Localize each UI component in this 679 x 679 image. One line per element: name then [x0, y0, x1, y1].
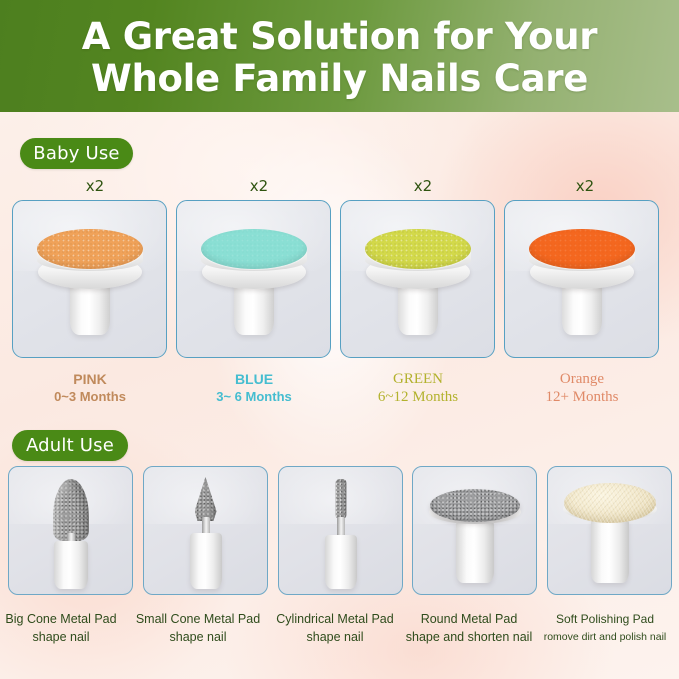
infographic-page: A Great Solution for Your Whole Family N… [0, 0, 679, 679]
baby-count-blue: x2 [176, 176, 342, 196]
adult-label-round-pad-line2: shape and shorten nail [400, 628, 538, 646]
baby-label-pink-name: PINK [10, 370, 170, 388]
adult-label-big-cone-line1: Big Cone Metal Pad [0, 610, 130, 628]
adult-label-cylindrical-line1: Cylindrical Metal Pad [266, 610, 404, 628]
baby-label-blue-age: 3~ 6 Months [174, 388, 334, 406]
baby-card-blue[interactable] [176, 200, 331, 358]
sanding-pad-icon [505, 215, 658, 355]
adult-card-soft-polishing[interactable] [547, 466, 672, 595]
adult-label-cylindrical: Cylindrical Metal Pad shape nail [266, 610, 404, 646]
adult-card-round-pad[interactable] [412, 466, 537, 595]
pad-surface-felt [564, 483, 656, 523]
adult-label-round-pad: Round Metal Pad shape and shorten nail [400, 610, 538, 646]
adult-label-big-cone-line2: shape nail [0, 628, 130, 646]
baby-count-orange: x2 [502, 176, 668, 196]
adult-label-small-cone: Small Cone Metal Pad shape nail [129, 610, 267, 646]
baby-label-blue: BLUE 3~ 6 Months [174, 370, 334, 406]
baby-use-badge: Baby Use [20, 138, 133, 169]
pad-stem [456, 521, 494, 583]
baby-label-green-age: 6~12 Months [338, 388, 498, 406]
baby-card-green[interactable] [340, 200, 495, 358]
header-title-line1: A Great Solution for Your [82, 16, 597, 58]
baby-count-row: x2 x2 x2 x2 [12, 176, 667, 196]
baby-cards-row [12, 200, 668, 360]
adult-label-cylindrical-line2: shape nail [266, 628, 404, 646]
pad-surface-pink [37, 229, 143, 269]
baby-count-pink: x2 [12, 176, 178, 196]
baby-card-orange[interactable] [504, 200, 659, 358]
header-title-line2: Whole Family Nails Care [91, 58, 588, 100]
adult-label-small-cone-line1: Small Cone Metal Pad [129, 610, 267, 628]
baby-label-orange: Orange 12+ Months [502, 370, 662, 406]
adult-label-soft-pad: Soft Polishing Pad romove dirt and polis… [536, 610, 674, 646]
adult-use-badge: Adult Use [12, 430, 128, 461]
baby-label-orange-name: Orange [502, 370, 662, 388]
pad-surface-orange [529, 229, 635, 269]
adult-label-big-cone: Big Cone Metal Pad shape nail [0, 610, 130, 646]
adult-label-soft-pad-line2: romove dirt and polish nail [536, 628, 674, 646]
pad-surface-metal [430, 489, 520, 522]
baby-label-green-name: GREEN [338, 370, 498, 388]
baby-label-pink: PINK 0~3 Months [10, 370, 170, 406]
pad-surface-green [365, 229, 471, 269]
adult-label-round-pad-line1: Round Metal Pad [400, 610, 538, 628]
baby-label-green: GREEN 6~12 Months [338, 370, 498, 406]
cylinder-head [335, 479, 346, 519]
pad-surface-blue [201, 229, 307, 269]
adult-card-cylindrical[interactable] [278, 466, 403, 595]
pad-stem [591, 519, 629, 583]
sanding-pad-icon [341, 215, 494, 355]
header-banner: A Great Solution for Your Whole Family N… [0, 0, 679, 112]
adult-label-soft-pad-line1: Soft Polishing Pad [536, 610, 674, 628]
sanding-pad-icon [13, 215, 166, 355]
baby-card-pink[interactable] [12, 200, 167, 358]
baby-count-green: x2 [340, 176, 506, 196]
adult-cards-row [8, 466, 672, 596]
adult-card-big-cone[interactable] [8, 466, 133, 595]
bit-stem [325, 535, 357, 589]
bit-stem [54, 541, 88, 589]
baby-labels-row: PINK 0~3 Months BLUE 3~ 6 Months GREEN 6… [12, 370, 668, 412]
adult-label-small-cone-line2: shape nail [129, 628, 267, 646]
baby-label-pink-age: 0~3 Months [10, 388, 170, 406]
adult-labels-row: Big Cone Metal Pad shape nail Small Cone… [0, 610, 679, 654]
sanding-pad-icon [177, 215, 330, 355]
bit-stem [190, 533, 222, 589]
baby-label-orange-age: 12+ Months [502, 388, 662, 406]
baby-label-blue-name: BLUE [174, 370, 334, 388]
adult-card-small-cone[interactable] [143, 466, 268, 595]
